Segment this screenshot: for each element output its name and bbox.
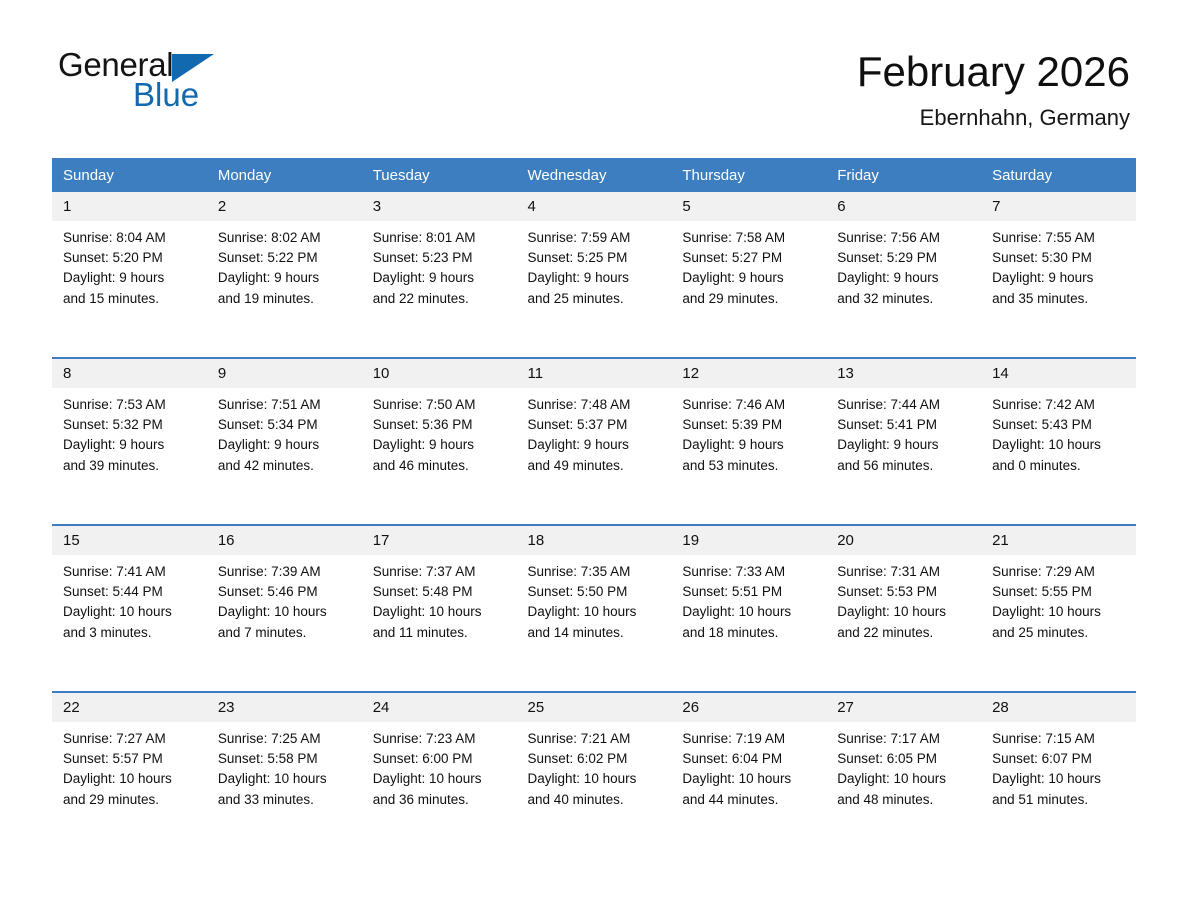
calendar-day-cell[interactable]: 6Sunrise: 7:56 AMSunset: 5:29 PMDaylight… — [826, 192, 981, 358]
calendar-day-cell[interactable]: 16Sunrise: 7:39 AMSunset: 5:46 PMDayligh… — [207, 525, 362, 692]
day-number: 14 — [981, 359, 1136, 388]
calendar-day-cell[interactable]: 10Sunrise: 7:50 AMSunset: 5:36 PMDayligh… — [362, 358, 517, 525]
day-number: 24 — [362, 693, 517, 722]
daylight-text: Daylight: 9 hours — [218, 268, 354, 288]
day-number: 9 — [207, 359, 362, 388]
sunrise-text: Sunrise: 7:19 AM — [682, 729, 818, 749]
calendar-day-cell[interactable]: 13Sunrise: 7:44 AMSunset: 5:41 PMDayligh… — [826, 358, 981, 525]
sunrise-text: Sunrise: 8:01 AM — [373, 228, 509, 248]
sunrise-text: Sunrise: 7:21 AM — [528, 729, 664, 749]
sunset-text: Sunset: 5:57 PM — [63, 749, 199, 769]
calendar-day-cell[interactable]: 11Sunrise: 7:48 AMSunset: 5:37 PMDayligh… — [517, 358, 672, 525]
day-number: 8 — [52, 359, 207, 388]
sunrise-text: Sunrise: 7:50 AM — [373, 395, 509, 415]
page-title: February 2026 — [857, 46, 1130, 98]
daylight-text: Daylight: 10 hours — [218, 769, 354, 789]
calendar-day-cell[interactable]: 4Sunrise: 7:59 AMSunset: 5:25 PMDaylight… — [517, 192, 672, 358]
daylight-text: and 35 minutes. — [992, 289, 1128, 309]
sunset-text: Sunset: 5:44 PM — [63, 582, 199, 602]
sunset-text: Sunset: 5:53 PM — [837, 582, 973, 602]
sunset-text: Sunset: 5:55 PM — [992, 582, 1128, 602]
day-details: Sunrise: 7:50 AMSunset: 5:36 PMDaylight:… — [362, 388, 517, 476]
sunset-text: Sunset: 5:37 PM — [528, 415, 664, 435]
sunset-text: Sunset: 5:27 PM — [682, 248, 818, 268]
sunrise-text: Sunrise: 7:23 AM — [373, 729, 509, 749]
day-details: Sunrise: 7:55 AMSunset: 5:30 PMDaylight:… — [981, 221, 1136, 309]
title-block: February 2026 Ebernhahn, Germany — [857, 46, 1130, 133]
sunset-text: Sunset: 6:00 PM — [373, 749, 509, 769]
day-details: Sunrise: 7:58 AMSunset: 5:27 PMDaylight:… — [671, 221, 826, 309]
daylight-text: Daylight: 9 hours — [837, 435, 973, 455]
day-number: 25 — [517, 693, 672, 722]
day-details: Sunrise: 7:39 AMSunset: 5:46 PMDaylight:… — [207, 555, 362, 643]
calendar-day-cell[interactable]: 12Sunrise: 7:46 AMSunset: 5:39 PMDayligh… — [671, 358, 826, 525]
calendar-day-cell[interactable]: 18Sunrise: 7:35 AMSunset: 5:50 PMDayligh… — [517, 525, 672, 692]
calendar-page: General Blue February 2026 Ebernhahn, Ge… — [0, 0, 1188, 918]
daylight-text: and 46 minutes. — [373, 456, 509, 476]
sunrise-text: Sunrise: 7:37 AM — [373, 562, 509, 582]
day-number: 3 — [362, 192, 517, 221]
day-details: Sunrise: 7:27 AMSunset: 5:57 PMDaylight:… — [52, 722, 207, 810]
sunrise-text: Sunrise: 8:02 AM — [218, 228, 354, 248]
day-details: Sunrise: 7:56 AMSunset: 5:29 PMDaylight:… — [826, 221, 981, 309]
day-number: 16 — [207, 526, 362, 555]
day-number: 17 — [362, 526, 517, 555]
sunset-text: Sunset: 5:43 PM — [992, 415, 1128, 435]
daylight-text: Daylight: 9 hours — [373, 435, 509, 455]
sunset-text: Sunset: 5:29 PM — [837, 248, 973, 268]
calendar-day-cell[interactable]: 3Sunrise: 8:01 AMSunset: 5:23 PMDaylight… — [362, 192, 517, 358]
sunrise-text: Sunrise: 7:25 AM — [218, 729, 354, 749]
day-number: 28 — [981, 693, 1136, 722]
day-details: Sunrise: 7:19 AMSunset: 6:04 PMDaylight:… — [671, 722, 826, 810]
sunrise-text: Sunrise: 7:56 AM — [837, 228, 973, 248]
daylight-text: and 40 minutes. — [528, 790, 664, 810]
calendar-day-cell[interactable]: 14Sunrise: 7:42 AMSunset: 5:43 PMDayligh… — [981, 358, 1136, 525]
sunrise-text: Sunrise: 7:15 AM — [992, 729, 1128, 749]
calendar-day-cell[interactable]: 5Sunrise: 7:58 AMSunset: 5:27 PMDaylight… — [671, 192, 826, 358]
daylight-text: Daylight: 10 hours — [528, 769, 664, 789]
sunset-text: Sunset: 6:04 PM — [682, 749, 818, 769]
daylight-text: Daylight: 10 hours — [528, 602, 664, 622]
sunrise-text: Sunrise: 7:39 AM — [218, 562, 354, 582]
daylight-text: Daylight: 10 hours — [218, 602, 354, 622]
sunset-text: Sunset: 5:51 PM — [682, 582, 818, 602]
day-number: 11 — [517, 359, 672, 388]
calendar-day-cell[interactable]: 1Sunrise: 8:04 AMSunset: 5:20 PMDaylight… — [52, 192, 207, 358]
page-header: General Blue February 2026 Ebernhahn, Ge… — [0, 0, 1188, 110]
calendar-day-cell[interactable]: 15Sunrise: 7:41 AMSunset: 5:44 PMDayligh… — [52, 525, 207, 692]
day-number: 10 — [362, 359, 517, 388]
day-number: 21 — [981, 526, 1136, 555]
daylight-text: and 29 minutes. — [63, 790, 199, 810]
calendar-week-row: 1Sunrise: 8:04 AMSunset: 5:20 PMDaylight… — [52, 192, 1136, 358]
calendar-day-cell[interactable]: 19Sunrise: 7:33 AMSunset: 5:51 PMDayligh… — [671, 525, 826, 692]
sunset-text: Sunset: 5:46 PM — [218, 582, 354, 602]
day-number: 27 — [826, 693, 981, 722]
sunrise-text: Sunrise: 7:53 AM — [63, 395, 199, 415]
day-details: Sunrise: 7:51 AMSunset: 5:34 PMDaylight:… — [207, 388, 362, 476]
daylight-text: and 14 minutes. — [528, 623, 664, 643]
daylight-text: and 15 minutes. — [63, 289, 199, 309]
daylight-text: and 56 minutes. — [837, 456, 973, 476]
weekday-header-monday: Monday — [207, 158, 362, 192]
calendar-day-cell[interactable]: 2Sunrise: 8:02 AMSunset: 5:22 PMDaylight… — [207, 192, 362, 358]
daylight-text: and 29 minutes. — [682, 289, 818, 309]
calendar-day-cell[interactable]: 20Sunrise: 7:31 AMSunset: 5:53 PMDayligh… — [826, 525, 981, 692]
daylight-text: and 18 minutes. — [682, 623, 818, 643]
weekday-header-wednesday: Wednesday — [517, 158, 672, 192]
daylight-text: Daylight: 10 hours — [63, 769, 199, 789]
sunset-text: Sunset: 6:02 PM — [528, 749, 664, 769]
calendar-day-cell[interactable]: 8Sunrise: 7:53 AMSunset: 5:32 PMDaylight… — [52, 358, 207, 525]
day-number: 2 — [207, 192, 362, 221]
page-subtitle: Ebernhahn, Germany — [857, 103, 1130, 133]
daylight-text: and 48 minutes. — [837, 790, 973, 810]
day-details: Sunrise: 7:21 AMSunset: 6:02 PMDaylight:… — [517, 722, 672, 810]
daylight-text: and 19 minutes. — [218, 289, 354, 309]
calendar-day-cell[interactable]: 23Sunrise: 7:25 AMSunset: 5:58 PMDayligh… — [207, 692, 362, 858]
day-number: 23 — [207, 693, 362, 722]
calendar-day-cell[interactable]: 26Sunrise: 7:19 AMSunset: 6:04 PMDayligh… — [671, 692, 826, 858]
day-number: 13 — [826, 359, 981, 388]
sunset-text: Sunset: 6:05 PM — [837, 749, 973, 769]
daylight-text: and 22 minutes. — [837, 623, 973, 643]
daylight-text: and 7 minutes. — [218, 623, 354, 643]
daylight-text: Daylight: 10 hours — [837, 602, 973, 622]
calendar-day-cell[interactable]: 27Sunrise: 7:17 AMSunset: 6:05 PMDayligh… — [826, 692, 981, 858]
sunset-text: Sunset: 5:23 PM — [373, 248, 509, 268]
daylight-text: and 25 minutes. — [992, 623, 1128, 643]
daylight-text: Daylight: 10 hours — [992, 602, 1128, 622]
sunrise-text: Sunrise: 7:44 AM — [837, 395, 973, 415]
day-number: 1 — [52, 192, 207, 221]
day-number: 22 — [52, 693, 207, 722]
day-details: Sunrise: 7:25 AMSunset: 5:58 PMDaylight:… — [207, 722, 362, 810]
daylight-text: and 53 minutes. — [682, 456, 818, 476]
daylight-text: Daylight: 10 hours — [373, 769, 509, 789]
daylight-text: Daylight: 10 hours — [373, 602, 509, 622]
calendar-day-cell[interactable]: 17Sunrise: 7:37 AMSunset: 5:48 PMDayligh… — [362, 525, 517, 692]
daylight-text: Daylight: 10 hours — [837, 769, 973, 789]
day-details: Sunrise: 7:46 AMSunset: 5:39 PMDaylight:… — [671, 388, 826, 476]
sunset-text: Sunset: 5:36 PM — [373, 415, 509, 435]
day-details: Sunrise: 8:02 AMSunset: 5:22 PMDaylight:… — [207, 221, 362, 309]
day-details: Sunrise: 7:23 AMSunset: 6:00 PMDaylight:… — [362, 722, 517, 810]
daylight-text: and 39 minutes. — [63, 456, 199, 476]
weekday-header-saturday: Saturday — [981, 158, 1136, 192]
calendar-day-cell[interactable]: 28Sunrise: 7:15 AMSunset: 6:07 PMDayligh… — [981, 692, 1136, 858]
sunrise-text: Sunrise: 7:42 AM — [992, 395, 1128, 415]
day-number: 5 — [671, 192, 826, 221]
sunset-text: Sunset: 5:39 PM — [682, 415, 818, 435]
calendar-day-cell[interactable]: 22Sunrise: 7:27 AMSunset: 5:57 PMDayligh… — [52, 692, 207, 858]
daylight-text: Daylight: 9 hours — [528, 268, 664, 288]
daylight-text: Daylight: 9 hours — [373, 268, 509, 288]
daylight-text: and 36 minutes. — [373, 790, 509, 810]
calendar-day-cell[interactable]: 21Sunrise: 7:29 AMSunset: 5:55 PMDayligh… — [981, 525, 1136, 692]
sunset-text: Sunset: 5:41 PM — [837, 415, 973, 435]
sunset-text: Sunset: 5:22 PM — [218, 248, 354, 268]
sunrise-text: Sunrise: 7:31 AM — [837, 562, 973, 582]
sunset-text: Sunset: 5:32 PM — [63, 415, 199, 435]
sunrise-text: Sunrise: 7:48 AM — [528, 395, 664, 415]
day-details: Sunrise: 8:04 AMSunset: 5:20 PMDaylight:… — [52, 221, 207, 309]
sunrise-text: Sunrise: 7:58 AM — [682, 228, 818, 248]
day-details: Sunrise: 7:33 AMSunset: 5:51 PMDaylight:… — [671, 555, 826, 643]
weekday-header-sunday: Sunday — [52, 158, 207, 192]
day-number: 7 — [981, 192, 1136, 221]
day-details: Sunrise: 7:31 AMSunset: 5:53 PMDaylight:… — [826, 555, 981, 643]
calendar-day-cell[interactable]: 9Sunrise: 7:51 AMSunset: 5:34 PMDaylight… — [207, 358, 362, 525]
day-details: Sunrise: 7:17 AMSunset: 6:05 PMDaylight:… — [826, 722, 981, 810]
day-details: Sunrise: 7:29 AMSunset: 5:55 PMDaylight:… — [981, 555, 1136, 643]
calendar-week-row: 8Sunrise: 7:53 AMSunset: 5:32 PMDaylight… — [52, 358, 1136, 525]
daylight-text: Daylight: 10 hours — [63, 602, 199, 622]
daylight-text: Daylight: 9 hours — [63, 268, 199, 288]
calendar-week-row: 15Sunrise: 7:41 AMSunset: 5:44 PMDayligh… — [52, 525, 1136, 692]
day-details: Sunrise: 8:01 AMSunset: 5:23 PMDaylight:… — [362, 221, 517, 309]
sunset-text: Sunset: 5:48 PM — [373, 582, 509, 602]
day-details: Sunrise: 7:41 AMSunset: 5:44 PMDaylight:… — [52, 555, 207, 643]
daylight-text: Daylight: 9 hours — [528, 435, 664, 455]
sunrise-text: Sunrise: 7:55 AM — [992, 228, 1128, 248]
day-details: Sunrise: 7:42 AMSunset: 5:43 PMDaylight:… — [981, 388, 1136, 476]
calendar-week-row: 22Sunrise: 7:27 AMSunset: 5:57 PMDayligh… — [52, 692, 1136, 858]
day-details: Sunrise: 7:48 AMSunset: 5:37 PMDaylight:… — [517, 388, 672, 476]
day-number: 18 — [517, 526, 672, 555]
calendar-table: Sunday Monday Tuesday Wednesday Thursday… — [52, 158, 1136, 858]
sunset-text: Sunset: 5:34 PM — [218, 415, 354, 435]
day-details: Sunrise: 7:59 AMSunset: 5:25 PMDaylight:… — [517, 221, 672, 309]
sunrise-text: Sunrise: 8:04 AM — [63, 228, 199, 248]
day-number: 20 — [826, 526, 981, 555]
daylight-text: and 25 minutes. — [528, 289, 664, 309]
calendar-day-cell[interactable]: 24Sunrise: 7:23 AMSunset: 6:00 PMDayligh… — [362, 692, 517, 858]
sunrise-text: Sunrise: 7:17 AM — [837, 729, 973, 749]
day-number: 19 — [671, 526, 826, 555]
sunset-text: Sunset: 5:50 PM — [528, 582, 664, 602]
sunset-text: Sunset: 5:25 PM — [528, 248, 664, 268]
daylight-text: and 0 minutes. — [992, 456, 1128, 476]
sunset-text: Sunset: 5:58 PM — [218, 749, 354, 769]
daylight-text: and 3 minutes. — [63, 623, 199, 643]
day-number: 12 — [671, 359, 826, 388]
day-details: Sunrise: 7:37 AMSunset: 5:48 PMDaylight:… — [362, 555, 517, 643]
weekday-header-tuesday: Tuesday — [362, 158, 517, 192]
calendar-day-cell[interactable]: 7Sunrise: 7:55 AMSunset: 5:30 PMDaylight… — [981, 192, 1136, 358]
daylight-text: Daylight: 9 hours — [992, 268, 1128, 288]
daylight-text: and 49 minutes. — [528, 456, 664, 476]
sunrise-text: Sunrise: 7:27 AM — [63, 729, 199, 749]
daylight-text: Daylight: 9 hours — [218, 435, 354, 455]
calendar-header-row: Sunday Monday Tuesday Wednesday Thursday… — [52, 158, 1136, 192]
sunset-text: Sunset: 5:20 PM — [63, 248, 199, 268]
daylight-text: Daylight: 10 hours — [992, 435, 1128, 455]
triangle-icon — [172, 54, 214, 82]
daylight-text: and 32 minutes. — [837, 289, 973, 309]
day-number: 4 — [517, 192, 672, 221]
sunrise-text: Sunrise: 7:33 AM — [682, 562, 818, 582]
daylight-text: Daylight: 9 hours — [682, 268, 818, 288]
daylight-text: and 44 minutes. — [682, 790, 818, 810]
day-details: Sunrise: 7:15 AMSunset: 6:07 PMDaylight:… — [981, 722, 1136, 810]
daylight-text: and 42 minutes. — [218, 456, 354, 476]
day-number: 26 — [671, 693, 826, 722]
sunset-text: Sunset: 6:07 PM — [992, 749, 1128, 769]
daylight-text: and 33 minutes. — [218, 790, 354, 810]
calendar-body: 1Sunrise: 8:04 AMSunset: 5:20 PMDaylight… — [52, 192, 1136, 858]
daylight-text: Daylight: 9 hours — [63, 435, 199, 455]
brand-name-blue: Blue — [133, 79, 358, 111]
daylight-text: Daylight: 10 hours — [992, 769, 1128, 789]
sunset-text: Sunset: 5:30 PM — [992, 248, 1128, 268]
daylight-text: Daylight: 10 hours — [682, 769, 818, 789]
brand-logo[interactable]: General Blue — [58, 48, 358, 128]
daylight-text: Daylight: 9 hours — [682, 435, 818, 455]
sunrise-text: Sunrise: 7:46 AM — [682, 395, 818, 415]
sunrise-text: Sunrise: 7:29 AM — [992, 562, 1128, 582]
day-details: Sunrise: 7:53 AMSunset: 5:32 PMDaylight:… — [52, 388, 207, 476]
sunrise-text: Sunrise: 7:51 AM — [218, 395, 354, 415]
daylight-text: Daylight: 10 hours — [682, 602, 818, 622]
daylight-text: and 51 minutes. — [992, 790, 1128, 810]
daylight-text: Daylight: 9 hours — [837, 268, 973, 288]
sunrise-text: Sunrise: 7:35 AM — [528, 562, 664, 582]
weekday-header-friday: Friday — [826, 158, 981, 192]
weekday-header-thursday: Thursday — [671, 158, 826, 192]
daylight-text: and 11 minutes. — [373, 623, 509, 643]
calendar-day-cell[interactable]: 25Sunrise: 7:21 AMSunset: 6:02 PMDayligh… — [517, 692, 672, 858]
sunrise-text: Sunrise: 7:41 AM — [63, 562, 199, 582]
daylight-text: and 22 minutes. — [373, 289, 509, 309]
day-details: Sunrise: 7:35 AMSunset: 5:50 PMDaylight:… — [517, 555, 672, 643]
day-number: 15 — [52, 526, 207, 555]
day-details: Sunrise: 7:44 AMSunset: 5:41 PMDaylight:… — [826, 388, 981, 476]
sunrise-text: Sunrise: 7:59 AM — [528, 228, 664, 248]
day-number: 6 — [826, 192, 981, 221]
